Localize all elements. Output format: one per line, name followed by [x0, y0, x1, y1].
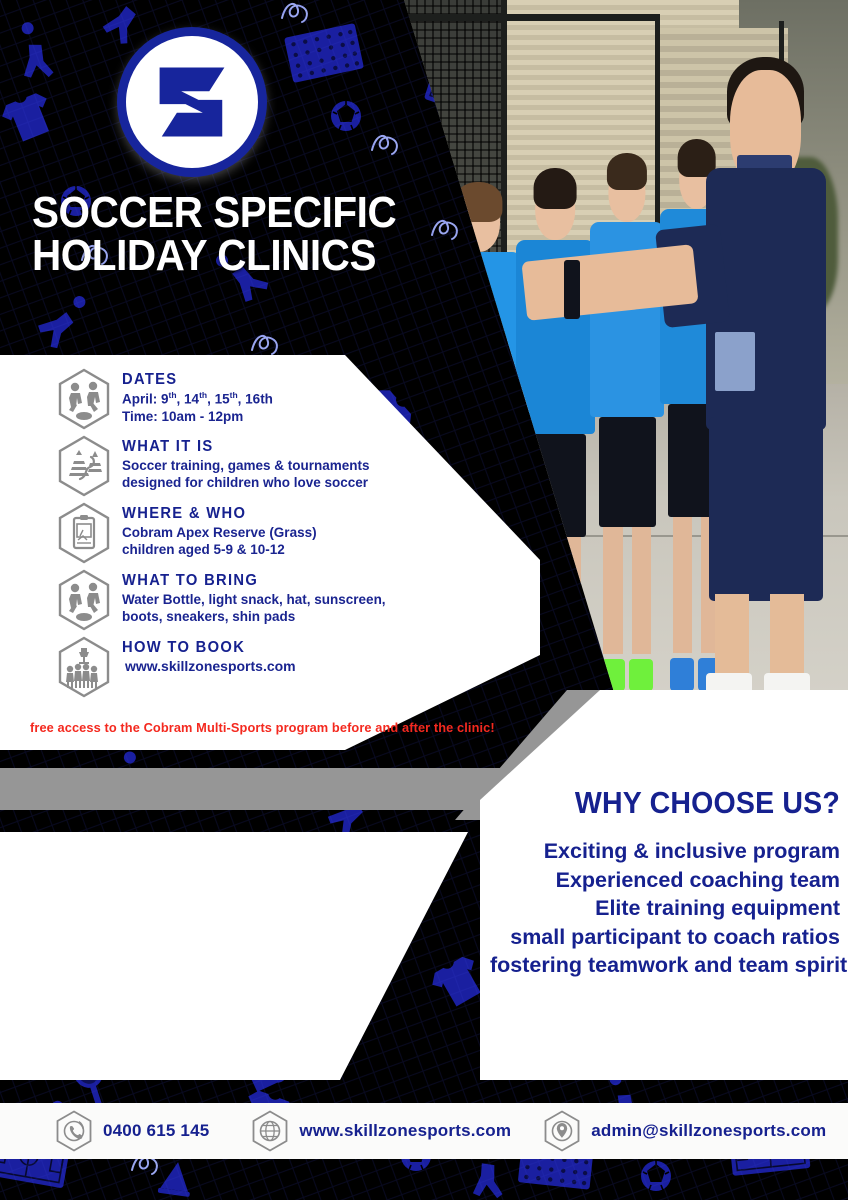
- contact-phone[interactable]: 0400 615 145: [55, 1110, 209, 1152]
- why-line-2: Experienced coaching team: [490, 866, 840, 895]
- info-title-dates: DATES: [122, 371, 265, 389]
- info-body-what-to-bring: Water Bottle, light snack, hat, sunscree…: [122, 591, 386, 626]
- contact-phone-value[interactable]: 0400 615 145: [103, 1121, 209, 1141]
- phone-icon: [55, 1110, 93, 1152]
- clipboard-tactics-icon: [56, 502, 112, 564]
- info-title-how-to-book: HOW TO BOOK: [122, 639, 287, 657]
- info-body-dates: April: 9th, 14th, 15th, 16th Time: 10am …: [122, 390, 273, 425]
- info-row-how-to-book: HOW TO BOOK www.skillzonesports.com: [56, 636, 476, 698]
- contact-website-value[interactable]: www.skillzonesports.com: [299, 1121, 511, 1141]
- info-title-what-to-bring: WHAT TO BRING: [122, 572, 372, 590]
- contact-footer: 0400 615 145 www.skillzonesports.com: [0, 1103, 848, 1159]
- time-line: Time: 10am - 12pm: [122, 408, 273, 425]
- contact-email-value[interactable]: admin@skillzonesports.com: [591, 1121, 826, 1141]
- why-line-1: Exciting & inclusive program: [490, 837, 840, 866]
- what-it-is-line-2: designed for children who love soccer: [122, 474, 370, 491]
- info-title-where-who: WHERE & WHO: [122, 505, 307, 523]
- info-row-dates: DATES April: 9th, 14th, 15th, 16th Time:…: [56, 368, 476, 430]
- why-line-3: Elite training equipment: [490, 894, 840, 923]
- who-line: children aged 5-9 & 10-12: [122, 541, 317, 558]
- why-line-5: fostering teamwork and team spirit.: [490, 951, 840, 980]
- free-access-note: free access to the Cobram Multi-Sports p…: [30, 720, 495, 735]
- skillzone-sz-monogram-icon: [138, 48, 246, 156]
- training-cones-drill-icon: [56, 435, 112, 497]
- headline-line-1: SOCCER SPECIFIC: [32, 192, 382, 235]
- headline-line-2: HOLIDAY CLINICS: [32, 235, 382, 278]
- poster-root: SOCCER SPECIFIC HOLIDAY CLINICS: [0, 0, 848, 1200]
- page-title: SOCCER SPECIFIC HOLIDAY CLINICS: [32, 192, 382, 277]
- skillzone-logo: [117, 27, 267, 177]
- info-body-where-who: Cobram Apex Reserve (Grass) children age…: [122, 524, 317, 559]
- what-it-is-line-1: Soccer training, games & tournaments: [122, 457, 370, 474]
- info-row-what-it-is: WHAT IT IS Soccer training, games & tour…: [56, 435, 476, 497]
- contact-website[interactable]: www.skillzonesports.com: [251, 1110, 511, 1152]
- where-line: Cobram Apex Reserve (Grass): [122, 524, 317, 541]
- children-playing-soccer-icon: [56, 569, 112, 631]
- children-playing-soccer-icon: [56, 368, 112, 430]
- booking-url[interactable]: www.skillzonesports.com: [125, 658, 296, 676]
- clinic-details-list: DATES April: 9th, 14th, 15th, 16th Time:…: [56, 368, 476, 703]
- info-title-what-it-is: WHAT IT IS: [122, 438, 357, 456]
- bring-line-2: boots, sneakers, shin pads: [122, 608, 386, 625]
- info-row-what-to-bring: WHAT TO BRING Water Bottle, light snack,…: [56, 569, 476, 631]
- bring-line-1: Water Bottle, light snack, hat, sunscree…: [122, 591, 386, 608]
- why-choose-us-title: WHY CHOOSE US?: [518, 785, 840, 821]
- contact-email[interactable]: admin@skillzonesports.com: [543, 1110, 826, 1152]
- info-body-what-it-is: Soccer training, games & tournaments des…: [122, 457, 370, 492]
- dates-line: April: 9th, 14th, 15th, 16th: [122, 390, 273, 408]
- location-pin-icon: [543, 1110, 581, 1152]
- team-trophy-celebration-icon: [56, 636, 112, 698]
- why-line-4: small participant to coach ratios: [490, 923, 840, 952]
- globe-icon: [251, 1110, 289, 1152]
- why-choose-us-section: WHY CHOOSE US? Exciting & inclusive prog…: [490, 785, 840, 980]
- info-body-how-to-book: www.skillzonesports.com: [122, 658, 296, 676]
- info-row-where-who: WHERE & WHO Cobram Apex Reserve (Grass) …: [56, 502, 476, 564]
